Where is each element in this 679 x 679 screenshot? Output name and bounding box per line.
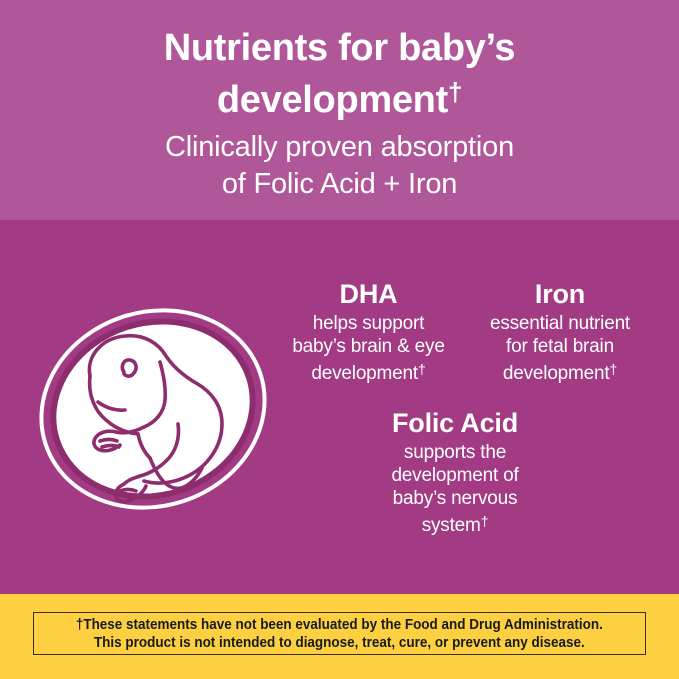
- nutrient-desc-iron-line1: essential nutrient: [490, 313, 630, 334]
- nutrient-desc-dha: helps support baby’s brain & eye develop…: [281, 312, 456, 385]
- hero-title-line2: development: [217, 79, 448, 121]
- nutrient-desc-folic-line2: development of: [391, 465, 518, 486]
- nutrient-desc-folic-dagger: †: [481, 513, 489, 529]
- nutrient-block-folic-acid: Folic Acid supports the development of b…: [366, 408, 544, 537]
- nutrient-desc-dha-dagger: †: [418, 361, 426, 377]
- nutrient-desc-iron-line2: for fetal brain: [506, 336, 614, 357]
- nutrient-desc-dha-line2: baby’s brain & eye: [292, 336, 444, 357]
- nutrient-desc-folic-line1: supports the: [404, 442, 506, 463]
- hero-band: Nutrients for baby’s development† Clinic…: [0, 0, 679, 220]
- hero-subtitle-line1: Clinically proven absorption: [165, 131, 514, 163]
- page-title: Nutrients for baby’s development†: [0, 26, 679, 122]
- nutrient-name-dha: DHA: [281, 279, 456, 309]
- nutrient-desc-iron: essential nutrient for fetal brain devel…: [471, 312, 649, 385]
- nutrient-desc-dha-line3: development: [311, 363, 418, 384]
- hero-title-line1: Nutrients for baby’s: [164, 27, 516, 69]
- disclaimer-footer-band: †These statements have not been evaluate…: [0, 594, 679, 679]
- hero-subtitle: Clinically proven absorption of Folic Ac…: [0, 129, 679, 203]
- nutrient-desc-dha-line1: helps support: [313, 313, 424, 334]
- fetus-in-womb-icon: [28, 284, 278, 534]
- nutrient-desc-iron-line3: development: [503, 363, 610, 384]
- nutrient-name-iron: Iron: [471, 279, 649, 309]
- nutrient-desc-folic-acid: supports the development of baby’s nervo…: [366, 441, 544, 537]
- disclaimer-line1: †These statements have not been evaluate…: [76, 617, 603, 633]
- nutrient-desc-folic-line3: baby’s nervous: [393, 488, 518, 509]
- disclaimer-text: †These statements have not been evaluate…: [76, 616, 603, 652]
- nutrient-block-dha: DHA helps support baby’s brain & eye dev…: [281, 279, 456, 385]
- hero-subtitle-line2: of Folic Acid + Iron: [222, 168, 457, 200]
- disclaimer-box: †These statements have not been evaluate…: [33, 612, 646, 655]
- nutrient-name-folic-acid: Folic Acid: [366, 408, 544, 438]
- nutrient-desc-folic-line4: system: [422, 515, 481, 536]
- disclaimer-line2: This product is not intended to diagnose…: [94, 635, 585, 651]
- product-benefits-infographic: Nutrients for baby’s development† Clinic…: [0, 0, 679, 679]
- hero-title-dagger: †: [448, 77, 462, 107]
- nutrient-block-iron: Iron essential nutrient for fetal brain …: [471, 279, 649, 385]
- nutrient-desc-iron-dagger: †: [610, 361, 618, 377]
